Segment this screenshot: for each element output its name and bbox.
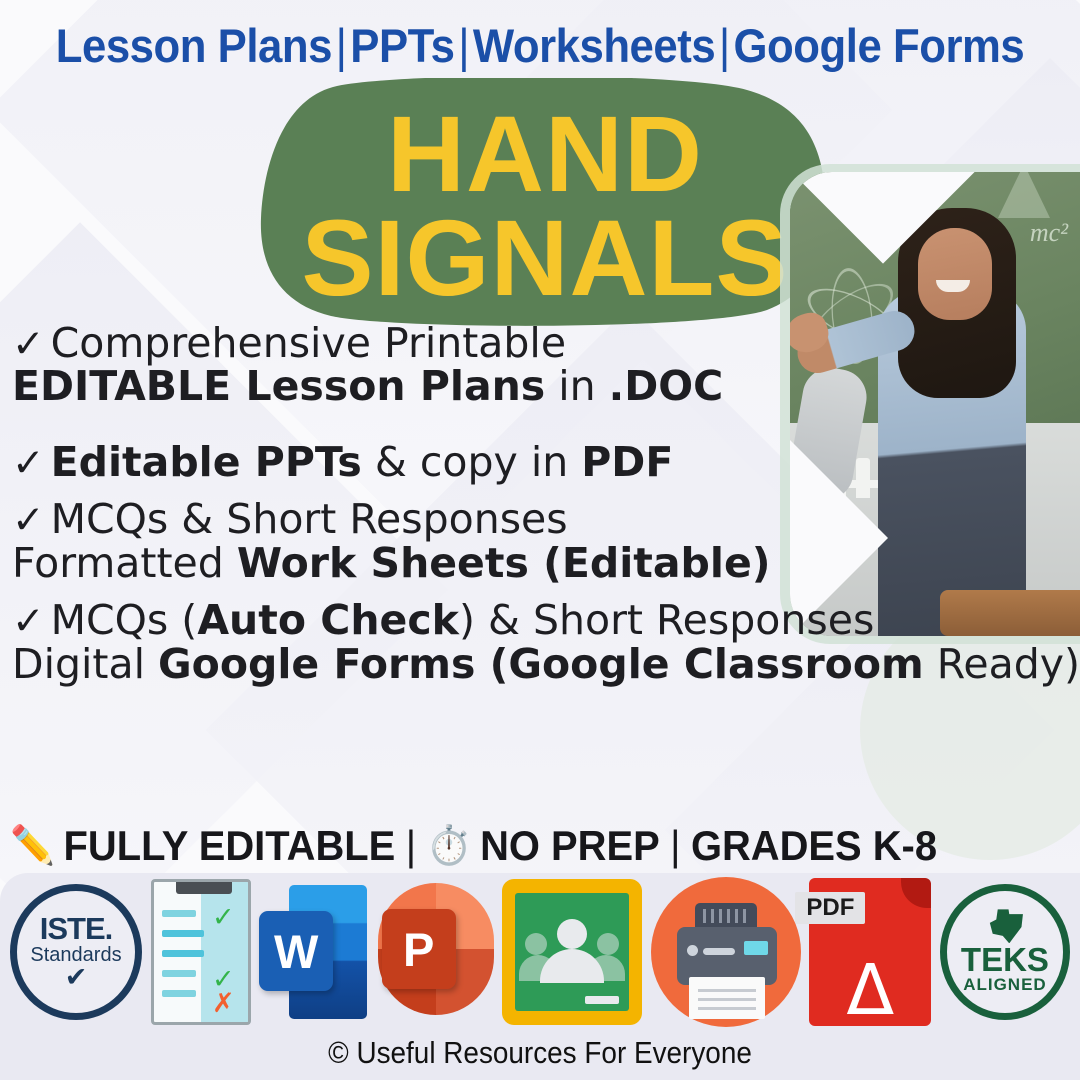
feature-item: ✓Editable PPTs & copy in PDF bbox=[12, 441, 1070, 484]
feature-text: PDF bbox=[581, 438, 673, 486]
feature-text: in bbox=[545, 362, 608, 410]
check-icon: ✓ bbox=[12, 601, 45, 642]
title-line-2: SIGNALS bbox=[301, 206, 788, 310]
google-classroom-icon bbox=[502, 879, 642, 1025]
feature-text: Digital bbox=[12, 640, 158, 688]
printer-icon bbox=[651, 877, 801, 1027]
header-item-worksheets: Worksheets bbox=[473, 19, 715, 72]
header-separator: | bbox=[332, 19, 350, 72]
fully-editable-label: FULLY EDITABLE bbox=[64, 822, 396, 870]
feature-item: ✓Comprehensive Printable EDITABLE Lesson… bbox=[12, 322, 1070, 409]
header-item-lesson-plans: Lesson Plans bbox=[56, 19, 332, 72]
feature-text: EDITABLE Lesson Plans bbox=[12, 362, 545, 410]
stopwatch-icon: ⏱️ bbox=[427, 827, 472, 865]
copyright-text: © Useful Resources For Everyone bbox=[54, 1035, 1026, 1071]
feature-text: Editable PPTs bbox=[51, 438, 362, 486]
word-letter: W bbox=[259, 911, 333, 991]
feature-text: MCQs & Short Responses bbox=[51, 495, 568, 543]
feature-text: & copy in bbox=[362, 438, 581, 486]
iste-check-icon: ✔ bbox=[65, 964, 88, 991]
check-icon: ✓ bbox=[12, 500, 45, 541]
iste-label: ISTE bbox=[40, 911, 105, 946]
divider: | bbox=[668, 822, 682, 870]
pdf-label: PDF bbox=[795, 892, 865, 924]
teks-aligned-label: ALIGNED bbox=[963, 976, 1047, 995]
no-prep-label: NO PREP bbox=[480, 822, 660, 870]
powerpoint-letter: P bbox=[382, 909, 456, 989]
title-badge: HAND SIGNALS bbox=[255, 78, 835, 333]
title-line-1: HAND bbox=[387, 102, 703, 206]
header-separator: | bbox=[715, 19, 733, 72]
check-mark-icon: ✓ bbox=[212, 904, 235, 931]
feature-text: Google Forms (Google Classroom bbox=[158, 640, 924, 688]
product-cover: Lesson Plans|PPTs|Worksheets|Google Form… bbox=[0, 0, 1080, 1080]
iste-standards-badge: ISTE. Standards ✔ bbox=[10, 884, 142, 1020]
teks-aligned-badge: TEKS ALIGNED bbox=[940, 884, 1070, 1020]
feature-text: Auto Check bbox=[197, 596, 459, 644]
feature-text: ) & Short Responses bbox=[459, 596, 874, 644]
grades-label: GRADES K-8 bbox=[691, 822, 937, 870]
highlight-badge-line: ✏️ FULLY EDITABLE | ⏱️ NO PREP | GRADES … bbox=[10, 822, 1027, 870]
header-item-google-forms: Google Forms bbox=[734, 19, 1025, 72]
feature-text: MCQs ( bbox=[51, 596, 198, 644]
feature-text: .DOC bbox=[609, 362, 724, 410]
check-icon: ✓ bbox=[12, 443, 45, 484]
feature-item: ✓MCQs (Auto Check) & Short Responses Dig… bbox=[12, 599, 1070, 686]
feature-list: ✓Comprehensive Printable EDITABLE Lesson… bbox=[12, 322, 1070, 700]
header-item-ppts: PPTs bbox=[350, 19, 454, 72]
pdf-document-icon: ᐃ PDF bbox=[809, 878, 931, 1026]
header-separator: | bbox=[455, 19, 473, 72]
microsoft-word-icon: W bbox=[259, 879, 367, 1025]
feature-text: Formatted bbox=[12, 539, 237, 587]
feature-item: ✓MCQs & Short Responses Formatted Work S… bbox=[12, 498, 1070, 585]
iste-dot: . bbox=[105, 911, 113, 946]
teks-label: TEKS bbox=[961, 944, 1049, 976]
feature-text: Work Sheets (Editable) bbox=[237, 539, 771, 587]
acrobat-glyph: ᐃ bbox=[846, 966, 894, 1015]
divider: | bbox=[404, 822, 418, 870]
title-text-stack: HAND SIGNALS bbox=[255, 78, 835, 333]
texas-state-icon bbox=[987, 909, 1023, 943]
feature-text: Ready) bbox=[924, 640, 1080, 688]
checklist-clipboard-icon: ✓ ✓ ✗ bbox=[151, 879, 251, 1025]
feature-text: Comprehensive Printable bbox=[51, 319, 566, 367]
cross-mark-icon: ✗ bbox=[212, 990, 235, 1017]
check-icon: ✓ bbox=[12, 324, 45, 365]
microsoft-powerpoint-icon: P bbox=[376, 879, 494, 1025]
pencil-icon: ✏️ bbox=[10, 827, 55, 865]
header-banner: Lesson Plans|PPTs|Worksheets|Google Form… bbox=[38, 18, 1042, 73]
